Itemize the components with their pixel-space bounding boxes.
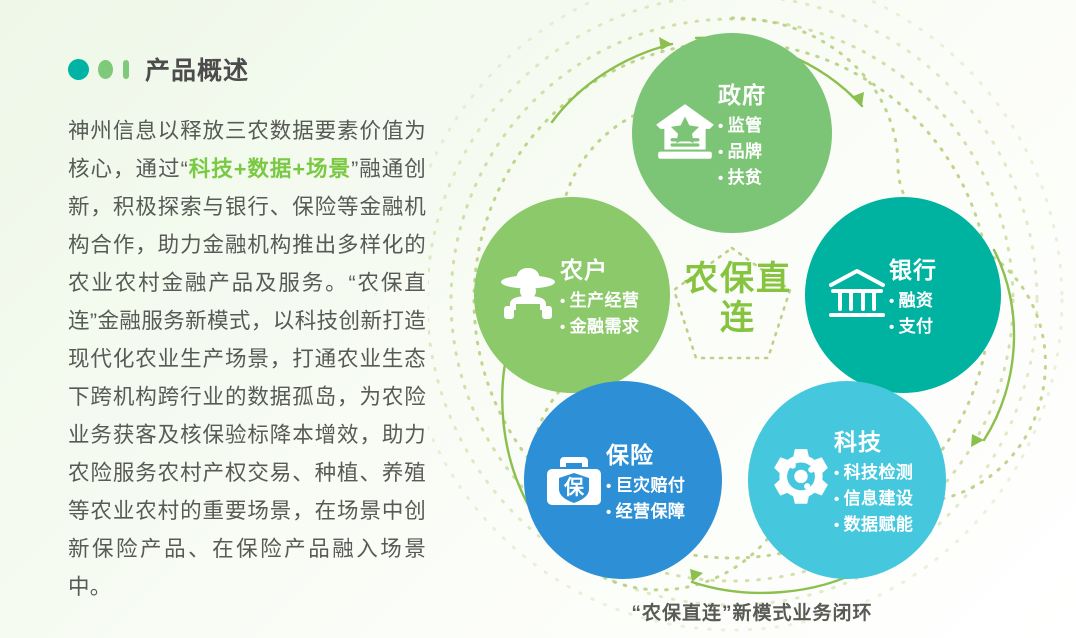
bank-building-star-icon	[652, 100, 718, 166]
overview-text-column: 产品概述 神州信息以释放三农数据要素价值为核心，通过“科技+数据+场景”融通创新…	[68, 52, 438, 606]
node-bank-bullet-1: 融资	[889, 288, 937, 314]
node-farmer-title: 农户	[560, 251, 639, 285]
overview-highlight: 科技+数据+场景	[188, 157, 351, 181]
svg-text:保: 保	[563, 476, 585, 499]
node-government[interactable]: 政府 监管 品牌 扶贫	[632, 33, 832, 233]
bar-small-green-icon	[123, 60, 129, 79]
node-farmer-bullet-2: 金融需求	[560, 314, 639, 340]
node-technology-text: 科技 科技检测 信息建设 数据赋能	[834, 423, 913, 538]
gear-icon	[768, 447, 834, 513]
node-government-bullet-3: 扶贫	[718, 165, 766, 191]
node-insurance-bullet-1: 巨灾赔付	[606, 473, 685, 499]
node-insurance-title: 保险	[606, 436, 685, 470]
arrowhead-farmer-to-government	[659, 37, 672, 50]
node-farmer-bullet-1: 生产经营	[560, 288, 639, 314]
overview-paragraph: 神州信息以释放三农数据要素价值为核心，通过“科技+数据+场景”融通创新，积极探索…	[68, 112, 426, 606]
node-bank-text: 银行 融资 支付	[889, 251, 937, 340]
node-technology-bullet-1: 科技检测	[834, 460, 913, 486]
briefcase-shield-bao-icon: 保	[542, 449, 606, 511]
node-technology-bullet-3: 数据赋能	[834, 512, 913, 538]
node-bank[interactable]: 银行 融资 支付	[805, 197, 1001, 393]
node-insurance-text: 保险 巨灾赔付 经营保障	[606, 436, 685, 525]
product-overview-slide: 产品概述 神州信息以释放三农数据要素价值为核心，通过“科技+数据+场景”融通创新…	[0, 0, 1076, 638]
node-insurance[interactable]: 保 保险 巨灾赔付 经营保障	[524, 381, 722, 579]
node-government-text: 政府 监管 品牌 扶贫	[718, 76, 766, 191]
overview-paragraph-part2: ”融通创新，积极探索与银行、保险等金融机构合作，助力金融机构推出多样化的农业农村…	[68, 157, 426, 599]
node-government-bullet-1: 监管	[718, 113, 766, 139]
business-loop-diagram: 政府 监管 品牌 扶贫 银行 融资 支付	[428, 0, 1076, 638]
farmer-hat-icon	[496, 265, 560, 325]
node-farmer-text: 农户 生产经营 金融需求	[560, 251, 639, 340]
dot-large-teal-icon	[68, 59, 89, 80]
node-technology[interactable]: 科技 科技检测 信息建设 数据赋能	[748, 381, 946, 579]
node-farmer[interactable]: 农户 生产经营 金融需求	[474, 197, 670, 393]
section-heading: 产品概述	[68, 52, 438, 86]
diagram-caption: “农保直连”新模式业务闭环	[428, 598, 1076, 625]
arrowhead-government-to-bank	[851, 92, 864, 106]
node-government-title: 政府	[718, 76, 766, 110]
page-title: 产品概述	[145, 51, 249, 87]
center-label: 农保直连	[668, 260, 808, 338]
bank-columns-icon	[825, 263, 889, 327]
node-bank-title: 银行	[889, 251, 937, 285]
node-technology-bullet-2: 信息建设	[834, 486, 913, 512]
dot-medium-green-icon	[98, 60, 113, 79]
arrowhead-bank-to-tech	[971, 434, 984, 447]
node-insurance-bullet-2: 经营保障	[606, 499, 685, 525]
node-technology-title: 科技	[834, 423, 913, 457]
node-bank-bullet-2: 支付	[889, 314, 937, 340]
node-government-bullet-2: 品牌	[718, 139, 766, 165]
